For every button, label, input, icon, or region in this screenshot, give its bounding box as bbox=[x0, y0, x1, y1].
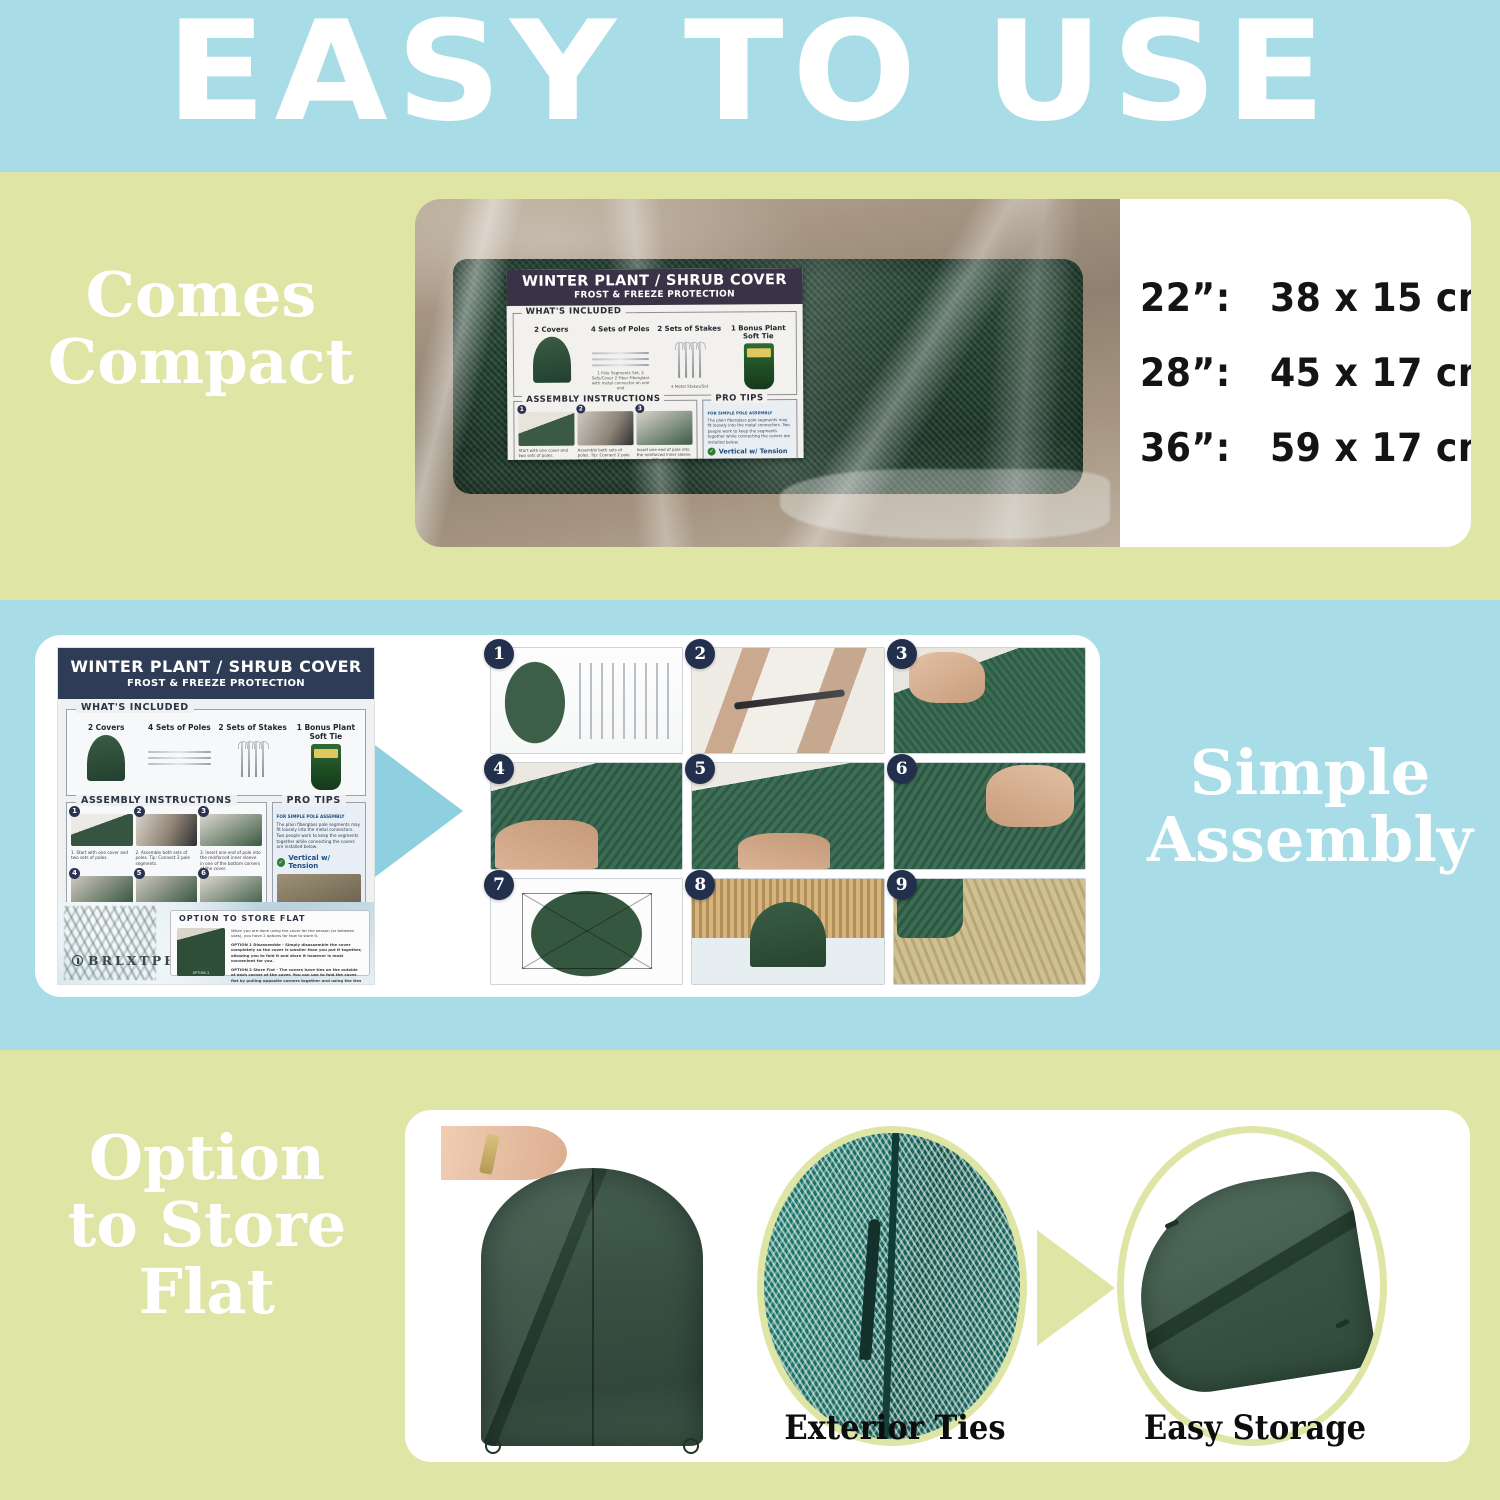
sheet-subtitle: FROST & FREEZE PROTECTION bbox=[58, 678, 374, 689]
assembly-step-3: 3 Insert one end of pole into the reinfo… bbox=[636, 411, 693, 460]
dimension-value: 45 x 17 cm bbox=[1270, 351, 1471, 396]
included-label: 4 Sets of Poles bbox=[144, 723, 214, 732]
step-number: 1 bbox=[517, 405, 526, 414]
pro-tips-subtitle: FOR SIMPLE POLE ASSEMBLY bbox=[707, 410, 792, 416]
fabric-seam bbox=[882, 1133, 900, 1439]
label-subtitle: FROST & FREEZE PROTECTION bbox=[506, 289, 802, 301]
step-photo bbox=[491, 648, 682, 753]
assembly-steps-grid: 1 2 3 4 5 6 7 bbox=[490, 647, 1086, 985]
step-badge: 6 bbox=[887, 754, 917, 784]
corner-tie-left bbox=[485, 1438, 501, 1454]
caption-exterior-ties: Exterior Ties bbox=[760, 1408, 1030, 1448]
store-flat-option-1: OPTION 1 Disassemble - Simply disassembl… bbox=[231, 942, 363, 964]
pine-branch-graphic bbox=[64, 906, 156, 980]
panel-2-card: WINTER PLANT / SHRUB COVER FROST & FREEZ… bbox=[35, 635, 1100, 997]
package-insert-label: WINTER PLANT / SHRUB COVER FROST & FREEZ… bbox=[506, 268, 803, 460]
dimensions-list: 22”: 38 x 15 cm 28”: 45 x 17 cm 36”: 59 … bbox=[1120, 199, 1471, 547]
dimension-size: 28”: bbox=[1140, 351, 1231, 396]
heading-line-2: to Store bbox=[68, 1188, 346, 1261]
stakes-icon bbox=[218, 735, 288, 781]
sheet-step-caption: 1. Start with one cover and two sets of … bbox=[71, 850, 133, 872]
folded-cover bbox=[481, 1168, 703, 1446]
store-flat-option-2: OPTION 2 Store Flat - The covers have ti… bbox=[231, 967, 363, 985]
easy-storage-closeup bbox=[1117, 1126, 1387, 1446]
step-photo bbox=[692, 648, 883, 753]
step-badge: 9 bbox=[887, 870, 917, 900]
store-flat-text: When you are done using the cover for th… bbox=[231, 928, 363, 970]
brand-mark-icon bbox=[72, 955, 83, 966]
sheet-included-poles: 4 Sets of Poles bbox=[144, 723, 214, 790]
arrow-right-icon bbox=[1037, 1230, 1115, 1346]
heading-option-to-store-flat: Option to Store Flat bbox=[22, 1125, 392, 1326]
step-number: 1 bbox=[69, 806, 80, 817]
heading-line-2: Compact bbox=[48, 325, 354, 398]
assembly-step-1: 1 Start with one cover and two sets of p… bbox=[518, 412, 575, 460]
tie-strap bbox=[859, 1218, 881, 1359]
step-caption: Start with one cover and two sets of pol… bbox=[519, 448, 575, 459]
included-item-soft-tie: 1 Bonus Plant Soft Tie bbox=[726, 324, 791, 389]
store-flat-photo bbox=[177, 928, 225, 976]
sheet-step-photo: 3 bbox=[200, 814, 262, 846]
sheet-step-photo: 2 bbox=[136, 814, 198, 846]
store-flat-title: OPTION TO STORE FLAT bbox=[179, 914, 305, 923]
assembly-step-8: 8 bbox=[691, 878, 884, 985]
infographic-page: EASY TO USE Comes Compact WINTER PLANT /… bbox=[0, 0, 1500, 1500]
sheet-whats-included-title: WHAT'S INCLUDED bbox=[76, 702, 194, 713]
label-header: WINTER PLANT / SHRUB COVER FROST & FREEZ… bbox=[506, 268, 802, 306]
included-label: 1 Bonus Plant Soft Tie bbox=[726, 324, 791, 340]
cover-icon bbox=[87, 735, 125, 781]
pro-tips-chip: ✓ Vertical w/ Tension bbox=[708, 447, 793, 456]
assembly-step-3: 3 bbox=[893, 647, 1086, 754]
folded-flat-cover bbox=[1125, 1166, 1379, 1401]
sheet-included-covers: 2 Covers bbox=[71, 723, 141, 790]
storage-tab bbox=[1335, 1318, 1350, 1328]
step-photo bbox=[491, 879, 682, 984]
check-icon: ✓ bbox=[277, 858, 286, 867]
sheet-title: WINTER PLANT / SHRUB COVER bbox=[58, 657, 374, 676]
heading-line-1: Comes bbox=[86, 258, 317, 331]
dimension-row: 28”: 45 x 17 cm bbox=[1140, 351, 1448, 396]
pro-tips-box: PRO TIPS FOR SIMPLE POLE ASSEMBLY The pl… bbox=[702, 399, 798, 460]
heading-line-3: Flat bbox=[139, 1255, 275, 1328]
soft-tie-icon bbox=[311, 744, 341, 790]
label-title: WINTER PLANT / SHRUB COVER bbox=[506, 272, 802, 290]
check-icon: ✓ bbox=[708, 448, 716, 456]
step-caption: Insert one end of pole into the reinforc… bbox=[637, 447, 693, 460]
whats-included-title: WHAT'S INCLUDED bbox=[522, 306, 626, 317]
step-caption: Assemble both sets of poles. Tip: Connec… bbox=[578, 447, 634, 460]
store-flat-body: When you are done using the cover for th… bbox=[231, 928, 354, 938]
whats-included-box: WHAT'S INCLUDED 2 Covers 4 Sets of Poles… bbox=[513, 311, 798, 397]
dimension-value: 38 x 15 cm bbox=[1270, 276, 1471, 321]
sheet-included-stakes: 2 Sets of Stakes bbox=[218, 723, 288, 790]
included-note: 1 Pole Segments Set, 2 Sets/Cover 2 Fibe… bbox=[588, 370, 653, 390]
dimension-value: 59 x 17 cm bbox=[1270, 426, 1471, 471]
included-label: 1 Bonus Plant Soft Tie bbox=[291, 723, 361, 741]
cover-icon bbox=[532, 337, 570, 383]
sheet-whats-included-box: WHAT'S INCLUDED 2 Covers 4 Sets of Poles… bbox=[66, 709, 366, 796]
step-photo bbox=[518, 412, 574, 446]
step-photo bbox=[894, 648, 1085, 753]
step-number: 2 bbox=[576, 404, 585, 413]
assembly-step-9: 9 bbox=[893, 878, 1086, 985]
sheet-pro-tips-photo bbox=[277, 874, 361, 904]
stakes-icon bbox=[657, 336, 722, 382]
step-photo bbox=[636, 411, 692, 445]
assembly-step-4: 4 bbox=[490, 762, 683, 869]
sheet-pro-tips-chip-label: Vertical w/ Tension bbox=[288, 854, 361, 870]
dimension-row: 36”: 59 x 17 cm bbox=[1140, 426, 1448, 471]
step-photo bbox=[491, 763, 682, 868]
assembly-step-7: 7 bbox=[490, 878, 683, 985]
assembly-step-5: 5 bbox=[691, 762, 884, 869]
option-to-store-flat-box: OPTION TO STORE FLAT When you are done u… bbox=[170, 910, 370, 976]
arm bbox=[441, 1126, 567, 1180]
included-item-poles: 4 Sets of Poles 1 Pole Segments Set, 2 S… bbox=[588, 325, 653, 390]
step-badge: 8 bbox=[685, 870, 715, 900]
step-photo bbox=[577, 411, 633, 445]
included-label: 2 Sets of Stakes bbox=[657, 325, 722, 333]
storage-tab bbox=[1165, 1219, 1180, 1229]
included-label: 4 Sets of Poles bbox=[588, 325, 653, 333]
sheet-caption-row-1: 1. Start with one cover and two sets of … bbox=[71, 850, 262, 872]
heading-line-2: Assembly bbox=[1147, 803, 1473, 876]
poles-icon bbox=[144, 735, 214, 765]
sheet-footer: BRLXTPEX OPTION TO STORE FLAT When you a… bbox=[58, 902, 375, 984]
hand-holding-cover-photo bbox=[423, 1122, 743, 1450]
included-label: 2 Sets of Stakes bbox=[218, 723, 288, 732]
assembly-title: ASSEMBLY INSTRUCTIONS bbox=[522, 394, 664, 405]
assembly-step-2: 2 Assemble both sets of poles. Tip: Conn… bbox=[577, 411, 634, 460]
heading-simple-assembly: Simple Assembly bbox=[1125, 740, 1495, 874]
dimension-size: 36”: bbox=[1140, 426, 1231, 471]
sheet-step-caption: 2. Assemble both sets of poles. Tip: Con… bbox=[136, 850, 198, 872]
soft-tie-icon bbox=[743, 343, 773, 389]
instruction-sheet: WINTER PLANT / SHRUB COVER FROST & FREEZ… bbox=[57, 647, 375, 985]
poles-icon bbox=[588, 336, 653, 366]
step-badge: 1 bbox=[484, 639, 514, 669]
included-item-stakes: 2 Sets of Stakes 4 Metal Stakes/Set bbox=[657, 325, 722, 390]
step-number: 2 bbox=[134, 806, 145, 817]
sheet-step-row-1: 1 2 3 bbox=[71, 814, 262, 846]
corner-tie-right bbox=[683, 1438, 699, 1454]
panel-1-card: WINTER PLANT / SHRUB COVER FROST & FREEZ… bbox=[415, 199, 1471, 547]
exterior-ties-closeup bbox=[757, 1126, 1027, 1446]
step-photo bbox=[692, 879, 883, 984]
sheet-step-caption: 3. Insert one end of pole into the reinf… bbox=[200, 850, 262, 872]
step-number: 3 bbox=[635, 404, 644, 413]
heading-line-1: Simple bbox=[1190, 736, 1430, 809]
step-badge: 7 bbox=[484, 870, 514, 900]
step-number: 4 bbox=[69, 868, 80, 879]
included-item-covers: 2 Covers bbox=[519, 325, 584, 390]
included-label: 2 Covers bbox=[519, 325, 584, 333]
assembly-step-6: 6 bbox=[893, 762, 1086, 869]
step-photo bbox=[692, 763, 883, 868]
step-number: 3 bbox=[198, 806, 209, 817]
sheet-pro-tips-title: PRO TIPS bbox=[282, 795, 346, 806]
sheet-pro-tips-chip: ✓ Vertical w/ Tension bbox=[277, 854, 361, 870]
step-number: 6 bbox=[198, 868, 209, 879]
step-photo bbox=[894, 763, 1085, 868]
assembly-instructions-box: ASSEMBLY INSTRUCTIONS 1 Start with one c… bbox=[513, 400, 698, 460]
arrow-right-icon bbox=[375, 745, 463, 877]
dimension-row: 22”: 38 x 15 cm bbox=[1140, 276, 1448, 321]
pro-tips-chip-label: Vertical w/ Tension bbox=[719, 447, 788, 455]
heading-comes-compact: Comes Compact bbox=[36, 262, 366, 396]
step-number: 5 bbox=[134, 868, 145, 879]
sheet-step-photo: 1 bbox=[71, 814, 133, 846]
pro-tips-body: The plain fiberglass pole segments may f… bbox=[707, 417, 792, 445]
assembly-step-2: 2 bbox=[691, 647, 884, 754]
sheet-pro-tips-subtitle: FOR SIMPLE POLE ASSEMBLY bbox=[277, 814, 361, 820]
included-note: 4 Metal Stakes/Set bbox=[657, 384, 722, 389]
dimension-size: 22”: bbox=[1140, 276, 1231, 321]
heading-line-1: Option bbox=[89, 1121, 325, 1194]
step-photo bbox=[894, 879, 1085, 984]
sheet-header: WINTER PLANT / SHRUB COVER FROST & FREEZ… bbox=[58, 648, 374, 699]
package-photo: WINTER PLANT / SHRUB COVER FROST & FREEZ… bbox=[415, 199, 1120, 547]
sheet-assembly-title: ASSEMBLY INSTRUCTIONS bbox=[76, 795, 237, 806]
page-title: EASY TO USE bbox=[0, 0, 1500, 158]
assembly-step-1: 1 bbox=[490, 647, 683, 754]
panel-3-card: Exterior Ties Easy Storage bbox=[405, 1110, 1470, 1462]
sheet-pro-tips-body: The plain fiberglass pole segments may f… bbox=[277, 822, 361, 850]
caption-easy-storage: Easy Storage bbox=[1120, 1408, 1390, 1448]
step-badge: 3 bbox=[887, 639, 917, 669]
included-label: 2 Covers bbox=[71, 723, 141, 732]
sheet-included-soft-tie: 1 Bonus Plant Soft Tie bbox=[291, 723, 361, 790]
pro-tips-title: PRO TIPS bbox=[711, 393, 767, 403]
